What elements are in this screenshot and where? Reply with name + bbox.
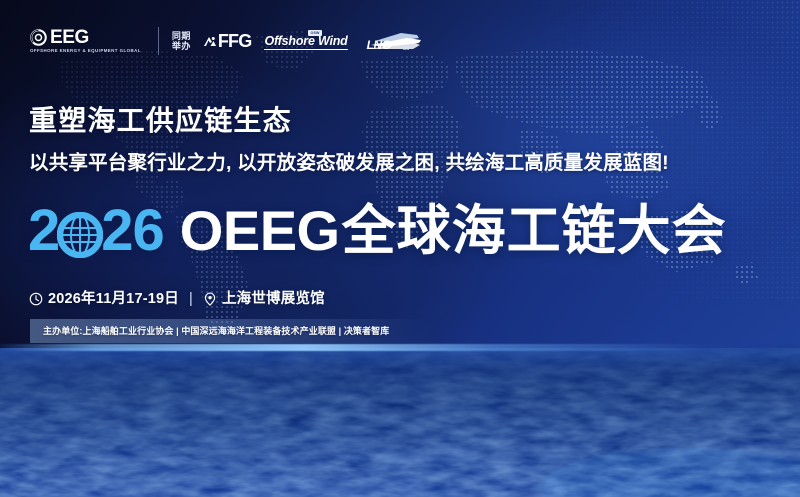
event-banner: EEG OFFSHORE ENERGY & EQUIPMENT GLOBAL 同… [0, 0, 800, 497]
hero-headline: 重塑海工供应链生态 [29, 104, 292, 138]
partner-logo-lng[interactable]: LNG sar [361, 29, 423, 53]
lng-superscript: sar [403, 46, 410, 51]
event-meta: 2026年11月17-19日 | 上海世博展览馆 [29, 289, 325, 309]
event-venue-group: 上海世博展览馆 [203, 289, 325, 309]
organizers-text: 主办单位:上海船舶工业行业协会 | 中国深远海海洋工程装备技术产业联盟 | 决策… [43, 325, 389, 337]
event-title: 2 26 OEEG 全球海工链大会 [28, 196, 727, 266]
ocean-background [0, 348, 800, 497]
ffg-mountain-icon [202, 34, 217, 49]
eeg-wordmark: EEG [50, 29, 89, 46]
event-name-cn: 全球海工链大会 [342, 203, 727, 259]
year-prefix: 2 [28, 202, 59, 260]
hero-subheadline: 以共享平台聚行业之力, 以开放姿态破发展之困, 共绘海工高质量发展蓝图! [29, 150, 669, 176]
event-date-group: 2026年11月17-19日 [29, 289, 179, 309]
event-date: 2026年11月17-19日 [48, 289, 179, 309]
meta-separator: | [189, 289, 193, 309]
concurrent-label-line2: 举办 [172, 41, 191, 51]
event-brand: OEEG [180, 203, 340, 259]
offshore-wind-underline [264, 49, 347, 51]
horizon-line [0, 344, 800, 351]
logo-bar: EEG OFFSHORE ENERGY & EQUIPMENT GLOBAL 同… [30, 22, 423, 60]
globe-icon [57, 210, 103, 256]
clock-icon [29, 292, 43, 306]
event-year: 2 26 [28, 202, 164, 260]
offshore-wind-wordmark: Offshore Wind [264, 35, 347, 48]
event-venue: 上海世博展览馆 [222, 289, 325, 309]
eeg-ring-icon [30, 29, 47, 46]
partner-logo-offshore-wind[interactable]: OSW Offshore Wind [264, 32, 347, 51]
ffg-wordmark: FFG [218, 33, 252, 49]
concurrent-label: 同期 举办 [172, 31, 191, 51]
eeg-logo[interactable]: EEG OFFSHORE ENERGY & EQUIPMENT GLOBAL [30, 29, 141, 54]
lng-wordmark: LNG [367, 38, 391, 52]
year-suffix: 26 [101, 202, 164, 260]
eeg-tagline: OFFSHORE ENERGY & EQUIPMENT GLOBAL [30, 48, 141, 54]
organizers-bar: 主办单位:上海船舶工业行业协会 | 中国深远海海洋工程装备技术产业联盟 | 决策… [30, 319, 430, 343]
logo-divider [158, 27, 159, 55]
offshore-wind-badge: OSW [308, 30, 321, 36]
concurrent-label-line1: 同期 [172, 31, 191, 41]
partner-logo-ffg[interactable]: FFG [202, 33, 252, 49]
location-pin-icon [203, 292, 217, 306]
